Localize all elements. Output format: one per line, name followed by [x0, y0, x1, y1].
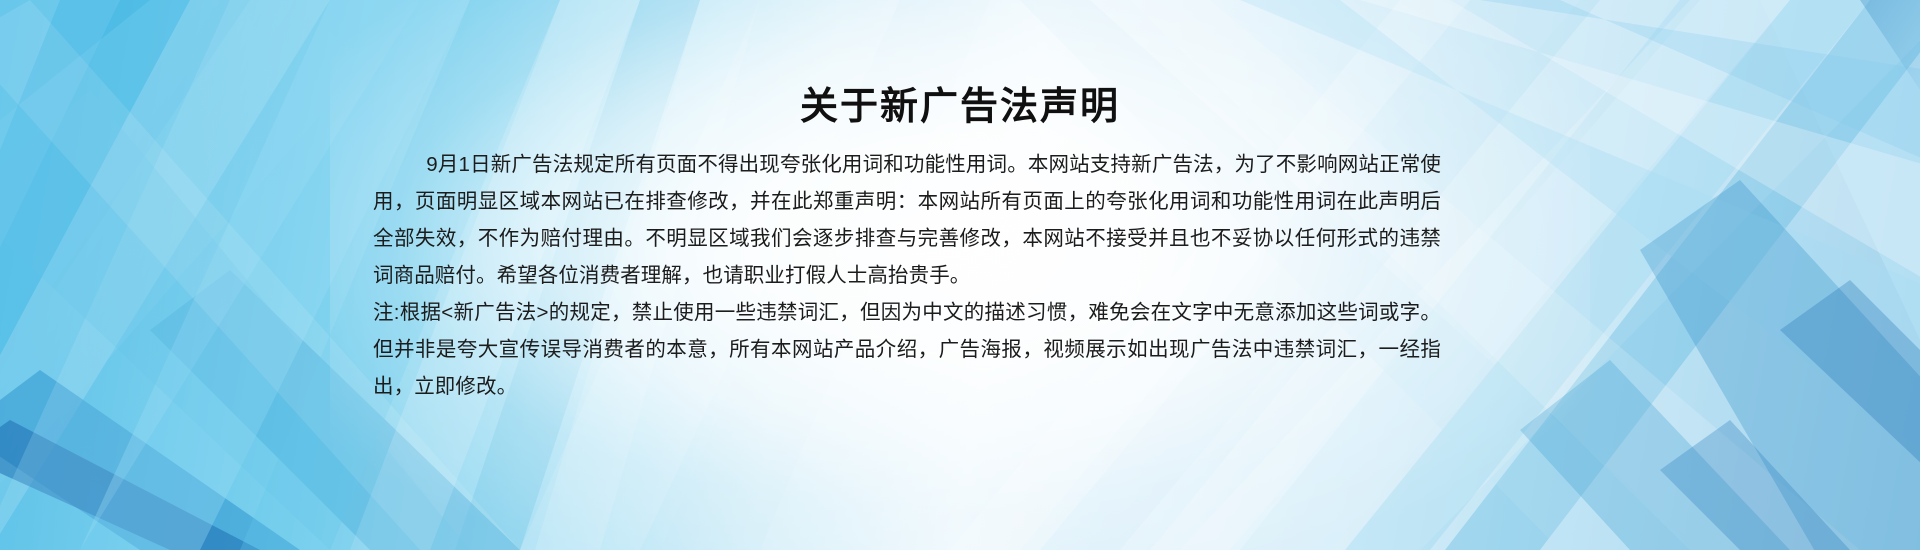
- statement-content: 关于新广告法声明 9月1日新广告法规定所有页面不得出现夸张化用词和功能性用词。本…: [0, 0, 1920, 550]
- page-title: 关于新广告法声明: [0, 86, 1920, 130]
- statement-paragraph-note: 注:根据<新广告法>的规定，禁止使用一些违禁词汇，但因为中文的描述习惯，难免会在…: [373, 294, 1441, 405]
- statement-paragraph-1: 9月1日新广告法规定所有页面不得出现夸张化用词和功能性用词。本网站支持新广告法，…: [373, 146, 1441, 294]
- statement-body: 9月1日新广告法规定所有页面不得出现夸张化用词和功能性用词。本网站支持新广告法，…: [373, 146, 1441, 405]
- advertising-law-statement-banner: 关于新广告法声明 9月1日新广告法规定所有页面不得出现夸张化用词和功能性用词。本…: [0, 0, 1920, 550]
